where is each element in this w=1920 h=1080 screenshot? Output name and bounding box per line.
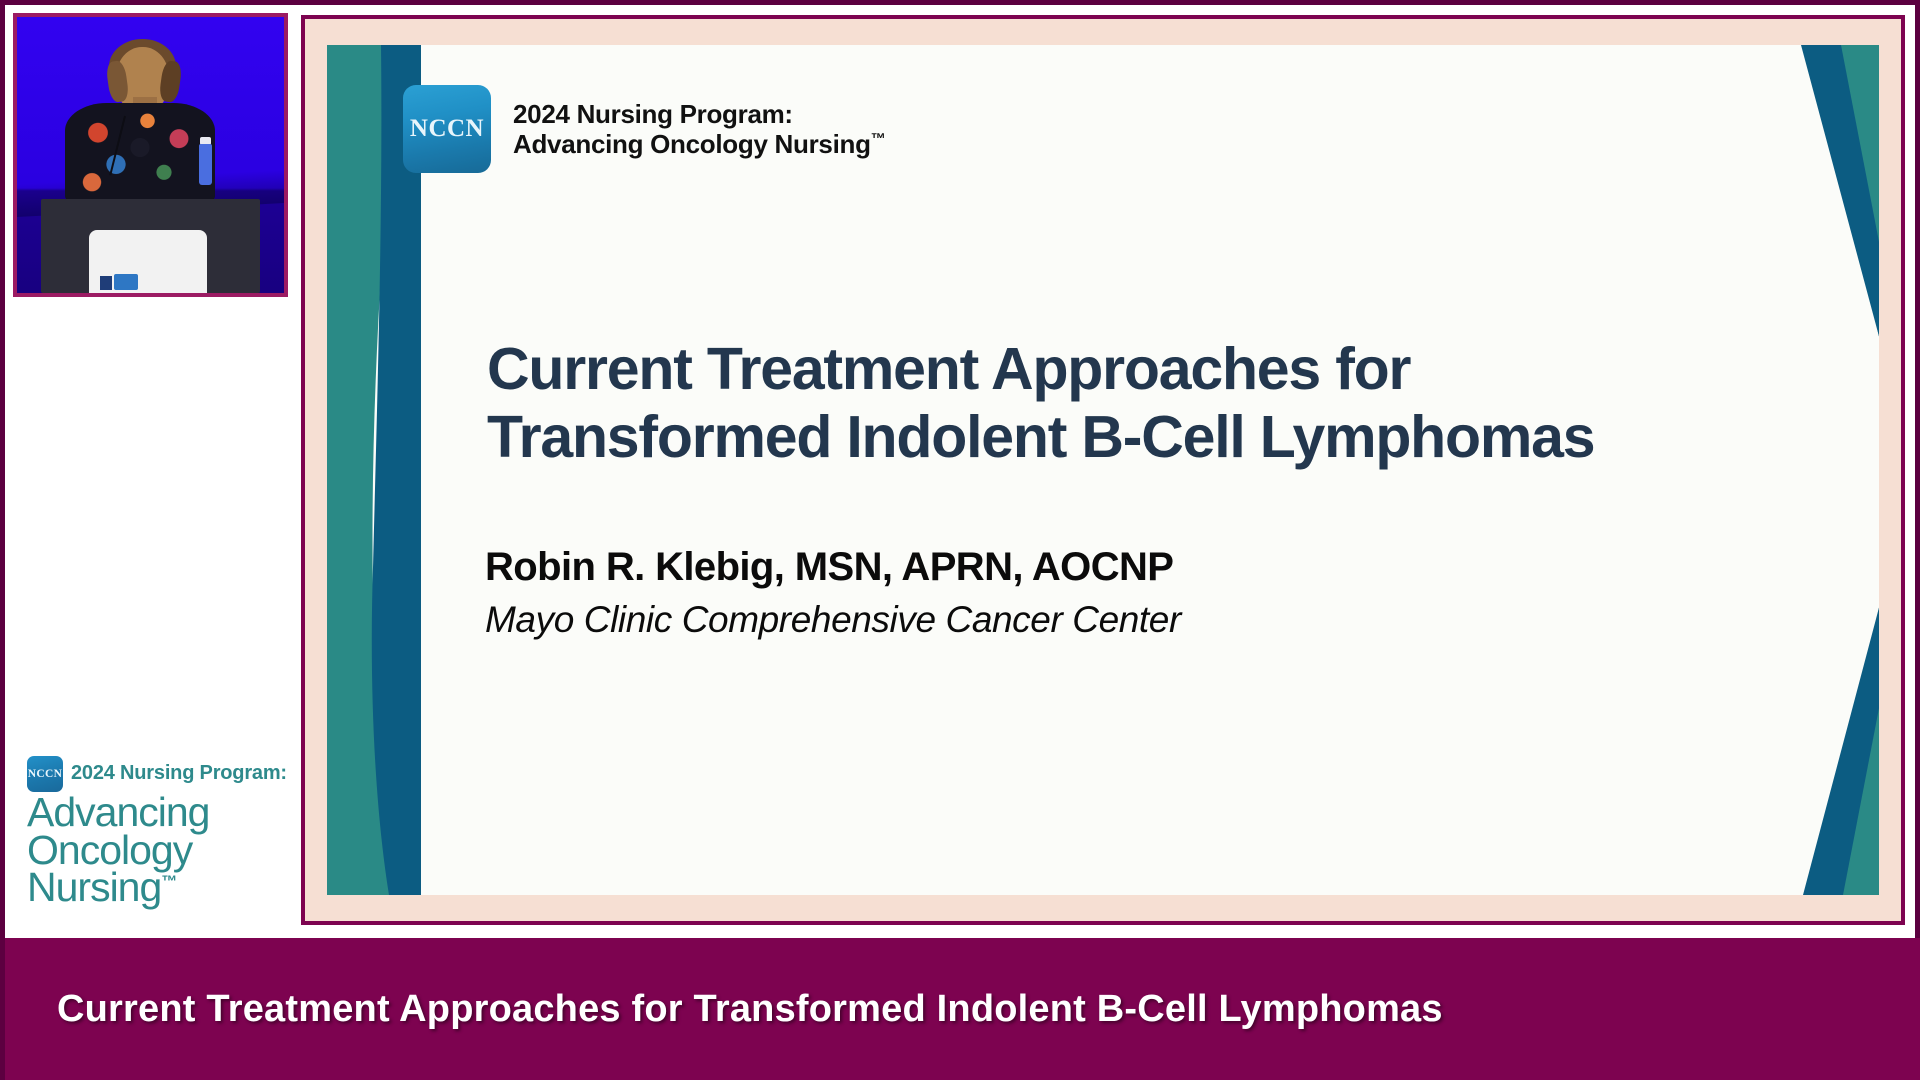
slide-title-line-2: Transformed Indolent B-Cell Lymphomas (487, 403, 1767, 471)
water-bottle (199, 144, 212, 185)
presenter-affiliation: Mayo Clinic Comprehensive Cancer Center (485, 599, 1685, 641)
speaker-video-frame (17, 17, 284, 293)
slide-header-line-2-text: Advancing Oncology Nursing (513, 129, 871, 159)
caption-bar: Current Treatment Approaches for Transfo… (5, 938, 1920, 1080)
laptop-logo-mark (100, 276, 112, 290)
nccn-logo-label: NCCN (410, 115, 484, 143)
sidebar-program-logo: NCCN 2024 Nursing Program: Advancing Onc… (27, 756, 287, 907)
presenter-block: Robin R. Klebig, MSN, APRN, AOCNP Mayo C… (485, 545, 1685, 641)
sidebar-title-line-3: Nursing™ (27, 869, 287, 907)
sidebar-title-line-1: Advancing (27, 794, 287, 832)
slide-title-line-1: Current Treatment Approaches for (487, 335, 1767, 403)
slide-header-text: 2024 Nursing Program: Advancing Oncology… (513, 99, 885, 160)
slide-header-line-2: Advancing Oncology Nursing™ (513, 129, 885, 159)
decor-wedges-right (1779, 45, 1879, 895)
caption-text: Current Treatment Approaches for Transfo… (5, 988, 1443, 1031)
trademark-symbol: ™ (161, 874, 176, 891)
slide-frame: NCCN 2024 Nursing Program: Advancing Onc… (301, 15, 1905, 925)
trademark-symbol: ™ (871, 130, 886, 147)
sidebar: NCCN 2024 Nursing Program: Advancing Onc… (5, 5, 301, 935)
speaker-video-thumbnail[interactable] (13, 13, 288, 297)
sidebar-title-line-3-text: Nursing (27, 864, 161, 910)
sidebar-program-line: 2024 Nursing Program: (71, 762, 287, 785)
laptop-logo-block (114, 274, 138, 291)
presenter-name: Robin R. Klebig, MSN, APRN, AOCNP (485, 545, 1685, 590)
speaker-torso (65, 103, 215, 202)
slide-canvas[interactable]: NCCN 2024 Nursing Program: Advancing Onc… (327, 45, 1879, 895)
nccn-logo-icon: NCCN (403, 85, 491, 173)
sidebar-logo-row: NCCN 2024 Nursing Program: (27, 756, 287, 792)
slide-title: Current Treatment Approaches for Transfo… (487, 335, 1767, 472)
nccn-badge-icon: NCCN (27, 756, 63, 792)
presentation-viewer: NCCN 2024 Nursing Program: Advancing Onc… (0, 0, 1920, 1080)
nccn-badge-label: NCCN (28, 768, 62, 780)
sidebar-program-title: Advancing Oncology Nursing™ (27, 794, 287, 907)
slide-header-line-1: 2024 Nursing Program: (513, 99, 885, 129)
slide-header: NCCN 2024 Nursing Program: Advancing Onc… (403, 85, 885, 173)
